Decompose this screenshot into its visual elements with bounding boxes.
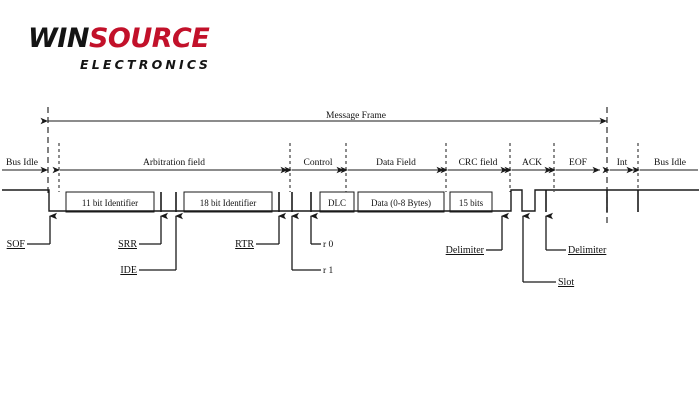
box-label-15-bits: 15 bits (459, 198, 484, 208)
callout-group: SOF SRR IDE RTR (7, 216, 607, 288)
field-label-control: Control (303, 158, 332, 168)
callout-srr: SRR (118, 216, 161, 250)
box-15-bits: 15 bits (450, 192, 492, 212)
field-label-arbitration-field: Arbitration field (143, 157, 205, 168)
callout-label-slot: Slot (558, 277, 574, 288)
callout-rtr: RTR (235, 216, 279, 250)
callout-label-ide: IDE (120, 265, 137, 276)
field-label-bus-idle-left: Bus Idle (6, 158, 38, 168)
box-11-bit-identifier: 11 bit Identifier (66, 192, 154, 212)
callout-label-rtr: RTR (235, 239, 254, 250)
callout-r0: r 0 (311, 216, 334, 250)
box-label-18-bit-identifier: 18 bit Identifier (200, 198, 256, 208)
callout-label-delimiter-crc: Delimiter (446, 245, 485, 256)
field-label-ack: ACK (522, 158, 542, 168)
callout-label-sof: SOF (7, 239, 26, 250)
callout-sof: SOF (7, 216, 50, 250)
callout-label-r0: r 0 (323, 240, 334, 250)
callout-crc-delimiter: Delimiter (446, 216, 502, 256)
callout-label-r1: r 1 (323, 266, 334, 276)
box-label-data: Data (0-8 Bytes) (371, 198, 431, 208)
callout-label-srr: SRR (118, 239, 137, 250)
box-data: Data (0-8 Bytes) (358, 192, 444, 212)
box-18-bit-identifier: 18 bit Identifier (184, 192, 272, 212)
field-label-eof: EOF (569, 158, 587, 168)
callout-label-delimiter-ack: Delimiter (568, 245, 607, 256)
message-frame-title: Message Frame (326, 111, 386, 121)
box-dlc: DLC (320, 192, 354, 212)
field-label-int: Int (617, 158, 628, 168)
box-label-11-bit-identifier: 11 bit Identifier (82, 198, 138, 208)
diagram-page: WINSOURCE ELECTRONICS Message Frame (0, 0, 700, 400)
box-label-dlc: DLC (328, 198, 346, 208)
message-frame-span: Message Frame (48, 111, 607, 121)
field-label-bus-idle-right: Bus Idle (654, 158, 686, 168)
field-label-data-field: Data Field (376, 158, 416, 168)
callout-ack-slot: Slot (523, 216, 574, 288)
can-message-frame-diagram: Message Frame Bus Idle (0, 0, 700, 400)
callout-ack-delimiter: Delimiter (546, 216, 607, 256)
field-label-crc-field: CRC field (459, 157, 498, 168)
field-label-band: Bus Idle Arbitration field Control Data … (2, 157, 698, 170)
